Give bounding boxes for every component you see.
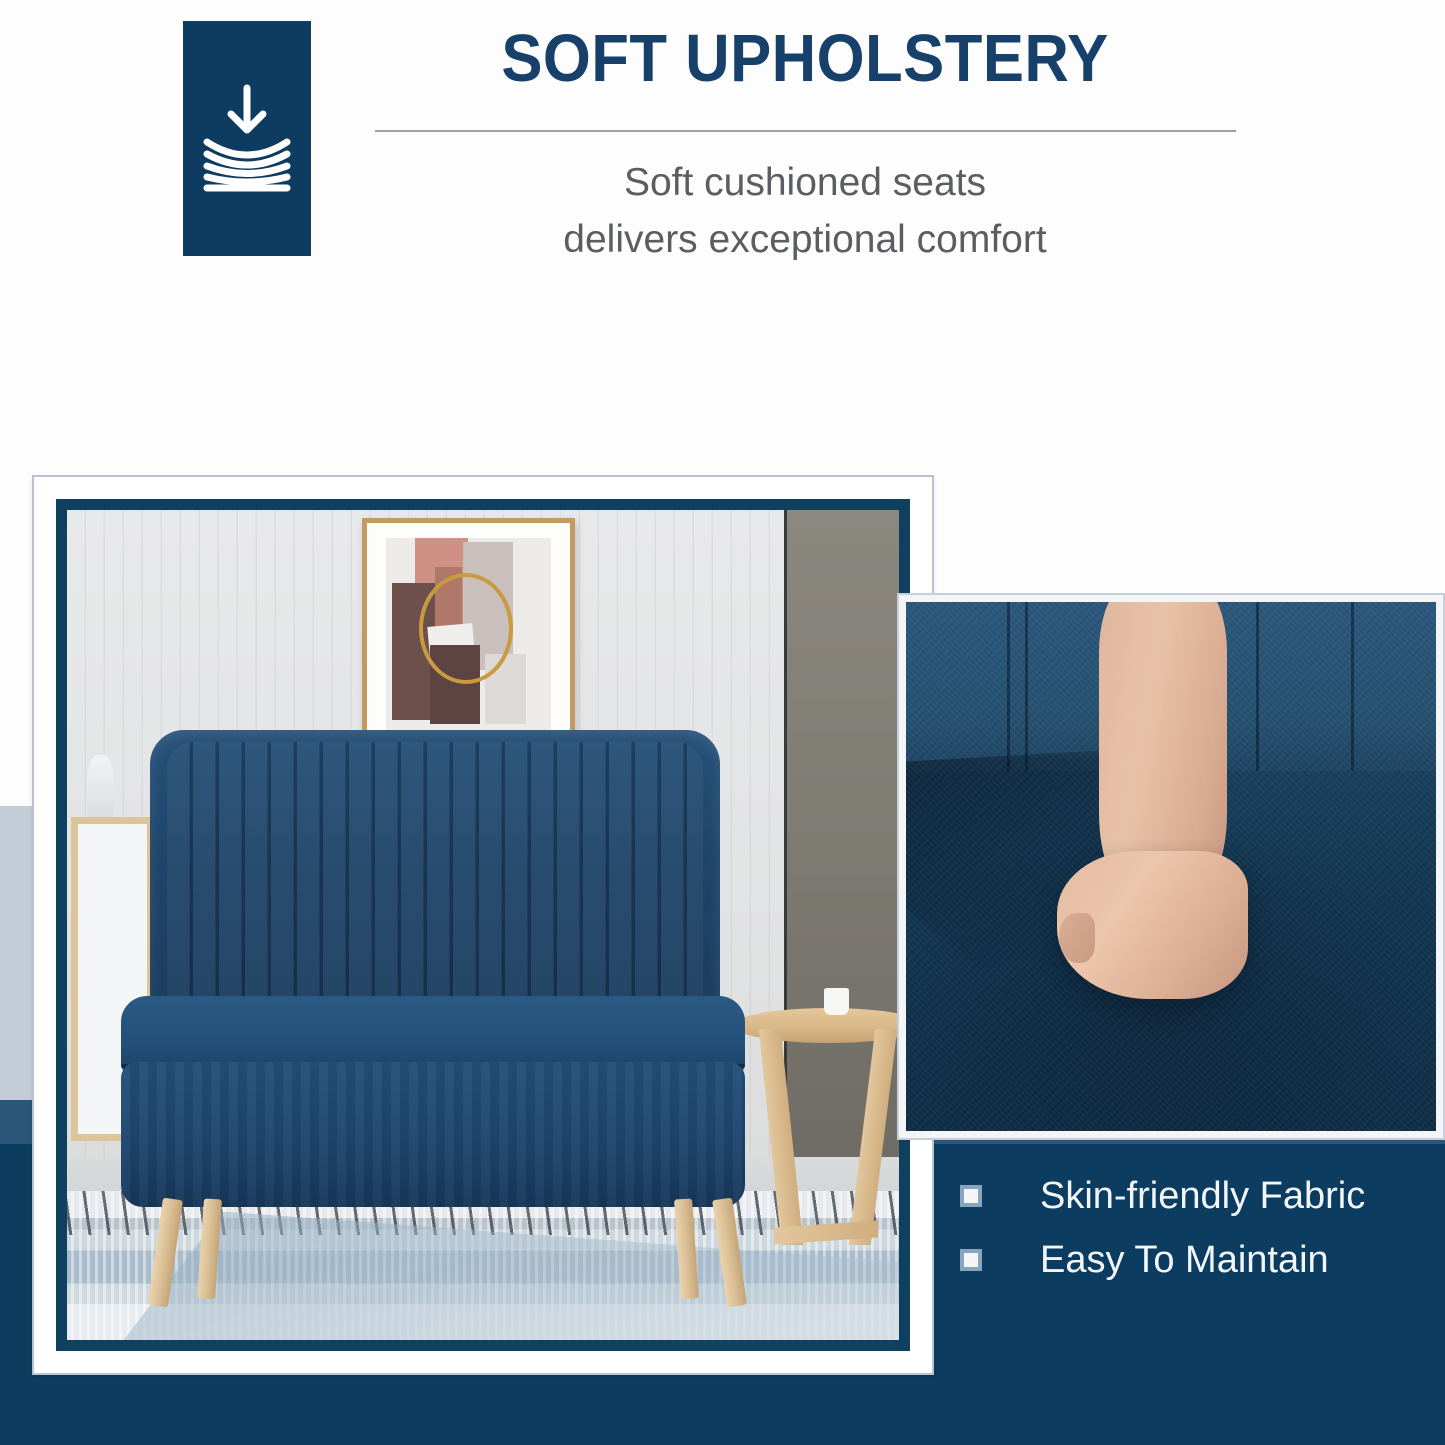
feature-icon-badge xyxy=(183,21,311,256)
forearm xyxy=(1099,595,1226,893)
header-section: SOFT UPHOLSTERY Soft cushioned seats del… xyxy=(0,0,1445,420)
wall-art-canvas xyxy=(386,538,552,745)
feature-bullet-list: Skin-friendly Fabric Easy To Maintain xyxy=(960,1168,1430,1296)
backrest-channel-tufting xyxy=(167,742,703,1023)
list-item: Skin-friendly Fabric xyxy=(960,1168,1430,1224)
page-title: SOFT UPHOLSTERY xyxy=(407,25,1204,92)
loveseat-backrest xyxy=(150,730,720,1029)
striped-area-rug xyxy=(67,1191,899,1340)
decor-vase xyxy=(87,755,114,821)
subtitle: Soft cushioned seats delivers exceptiona… xyxy=(372,155,1238,268)
art-gold-ring xyxy=(419,573,513,684)
feature-label: Easy To Maintain xyxy=(1040,1239,1329,1282)
feature-label: Skin-friendly Fabric xyxy=(1040,1175,1365,1218)
list-item: Easy To Maintain xyxy=(960,1232,1430,1288)
living-room-scene xyxy=(67,510,899,1340)
square-bullet-icon xyxy=(960,1249,982,1271)
subtitle-line-1: Soft cushioned seats xyxy=(372,155,1238,212)
main-product-photo xyxy=(56,499,910,1351)
title-divider xyxy=(375,130,1236,132)
main-product-photo-frame xyxy=(32,475,934,1375)
knuckle xyxy=(1059,913,1095,963)
loveseat-base xyxy=(121,1062,745,1207)
square-bullet-icon xyxy=(960,1185,982,1207)
base-fabric-texture xyxy=(121,1062,745,1207)
subtitle-line-2: delivers exceptional comfort xyxy=(372,212,1238,269)
detail-photo-frame xyxy=(899,595,1443,1138)
product-feature-infographic: SOFT UPHOLSTERY Soft cushioned seats del… xyxy=(0,0,1445,1445)
fist-pressing-cushion xyxy=(1057,851,1248,999)
white-cup xyxy=(824,988,849,1015)
